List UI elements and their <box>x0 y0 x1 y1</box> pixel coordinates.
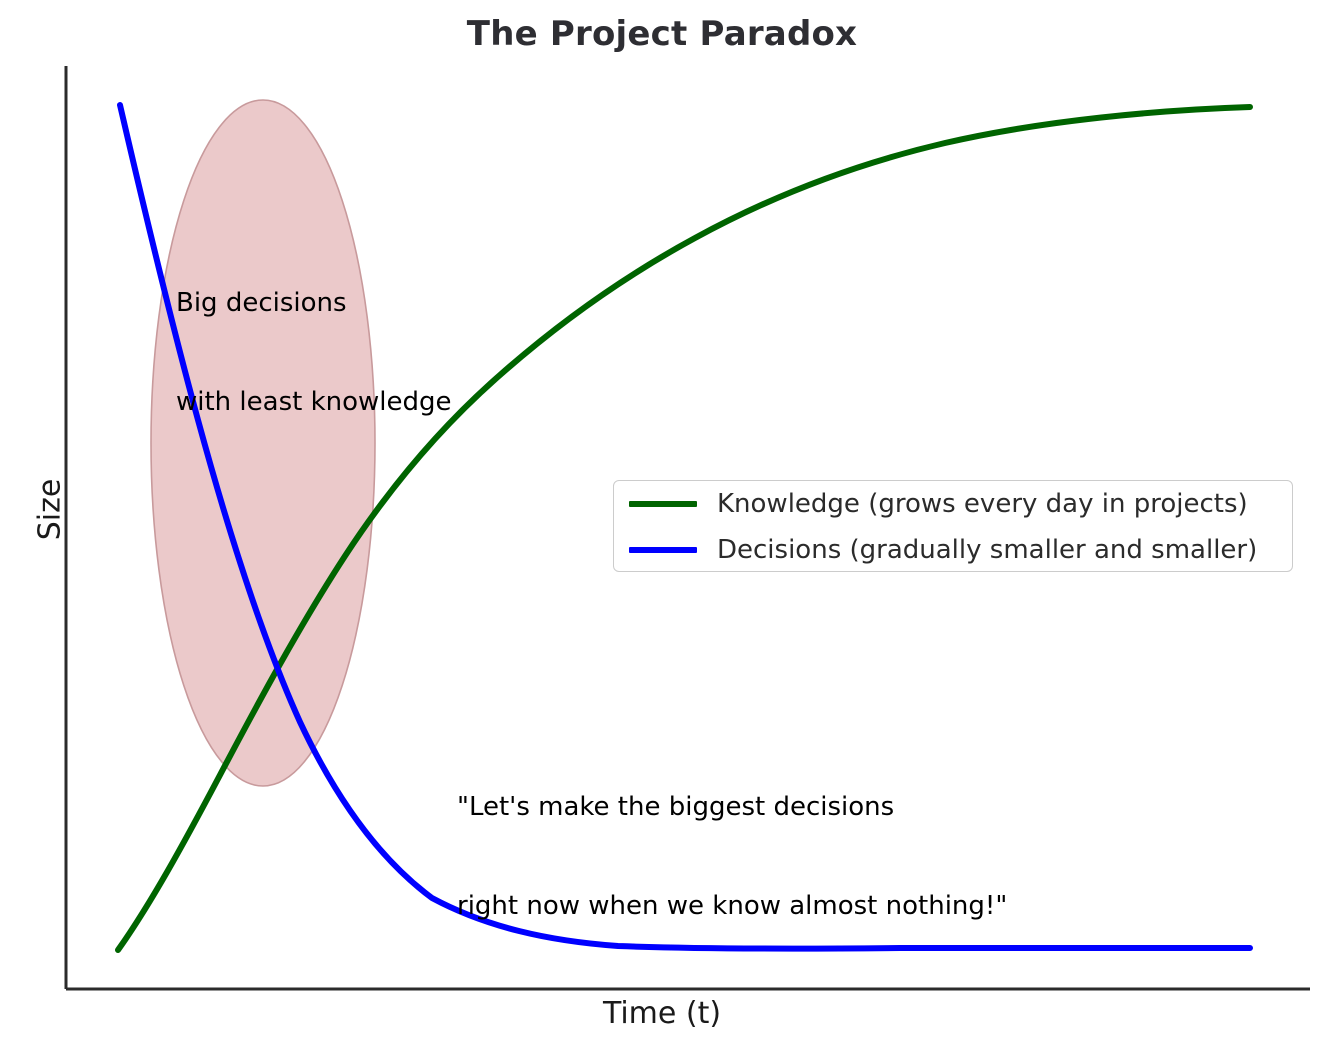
legend-entry-decisions: Decisions (gradually smaller and smaller… <box>614 527 1292 573</box>
big-decisions-annotation: Big decisions with least knowledge <box>176 220 452 486</box>
legend-label-knowledge: Knowledge (grows every day in projects) <box>717 489 1248 519</box>
quote-line-1: "Let's make the biggest decisions <box>457 791 1007 824</box>
chart-legend: Knowledge (grows every day in projects) … <box>613 480 1293 572</box>
quote-line-2: right now when we know almost nothing!" <box>457 890 1007 923</box>
legend-swatch-decisions <box>629 547 697 553</box>
legend-swatch-knowledge <box>629 501 697 507</box>
sarcastic-quote-annotation: "Let's make the biggest decisions right … <box>457 724 1007 990</box>
annotation-line-2: with least knowledge <box>176 386 452 419</box>
legend-label-decisions: Decisions (gradually smaller and smaller… <box>717 535 1257 565</box>
annotation-line-1: Big decisions <box>176 287 452 320</box>
x-axis-label: Time (t) <box>0 996 1324 1031</box>
chart-figure: The Project Paradox Size Time (t) Big de… <box>0 0 1324 1054</box>
y-axis-label: Size <box>33 450 68 570</box>
legend-entry-knowledge: Knowledge (grows every day in projects) <box>614 481 1292 527</box>
